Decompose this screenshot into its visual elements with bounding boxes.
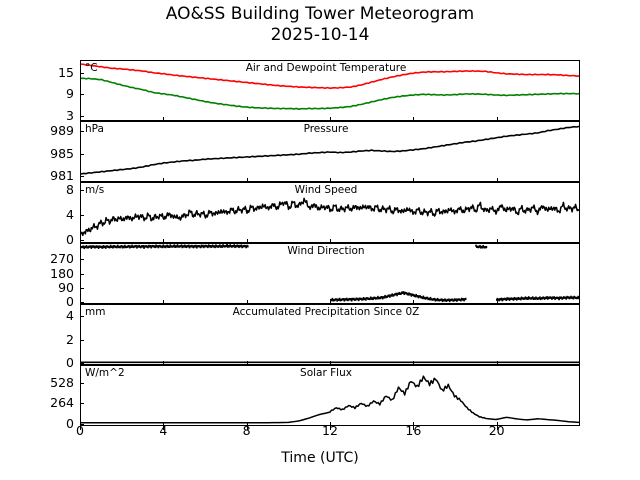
y-tick-label-temperature: 3 [0,109,74,122]
y-tick-mark [80,154,84,155]
x-tick-mark-inner [330,239,331,243]
wind-speed-panel-title: Wind Speed [81,185,579,196]
x-tick-mark-inner [163,361,164,365]
x-tick-mark-inner [497,117,498,121]
y-tick-label-wind-direction: 180 [0,267,74,280]
x-tick-mark-inner [330,300,331,304]
panel-wind-speed: m/s Wind Speed [80,182,580,243]
y-tick-label-precipitation: 0 [0,357,74,370]
y-tick-label-pressure: 989 [0,125,74,138]
y-tick-label-wind-direction: 270 [0,253,74,266]
panel-wind-direction: Wind Direction [80,243,580,304]
solar-flux-panel-title: Solar Flux [81,368,579,379]
y-tick-mark [80,274,84,275]
x-tick-mark-inner [80,178,81,182]
x-tick-mark-inner [413,239,414,243]
panel-pressure: hPa Pressure [80,121,580,182]
x-tick-mark-inner [497,239,498,243]
x-tick-mark-inner [247,300,248,304]
x-tick-mark [247,426,248,430]
panel-solar-flux: W/m^2 Solar Flux [80,365,580,426]
y-tick-mark [80,73,84,74]
precipitation-panel-title: Accumulated Precipitation Since 0Z [81,307,579,318]
y-tick-label-wind-speed: 0 [0,234,74,247]
x-tick-mark-inner [163,117,164,121]
x-tick-mark-inner [80,239,81,243]
temperature-panel-title: Air and Dewpoint Temperature [81,63,579,74]
wind-direction-panel-title: Wind Direction [81,246,579,257]
y-tick-mark [80,316,84,317]
y-tick-mark [80,383,84,384]
y-tick-label-temperature: 15 [0,66,74,79]
x-tick-mark-inner [413,361,414,365]
pressure-panel-title: Pressure [81,124,579,135]
y-tick-label-precipitation: 2 [0,333,74,346]
x-tick-mark-inner [413,178,414,182]
x-tick-mark [80,426,81,430]
x-tick-mark-inner [80,117,81,121]
y-tick-label-solar-flux: 264 [0,397,74,410]
x-tick-mark-inner [330,178,331,182]
y-tick-label-precipitation: 4 [0,310,74,323]
y-tick-mark [80,403,84,404]
y-tick-mark [80,190,84,191]
y-tick-mark [80,340,84,341]
x-tick-mark-inner [413,117,414,121]
x-tick-mark-inner [497,422,498,426]
x-tick-mark-inner [80,422,81,426]
x-tick-mark [330,426,331,430]
meteogram-figure: AO&SS Building Tower Meteorogram 2025-10… [0,0,640,480]
panel-precipitation: mm Accumulated Precipitation Since 0Z [80,304,580,365]
y-tick-label-pressure: 985 [0,148,74,161]
x-tick-mark-inner [247,178,248,182]
y-tick-label-wind-speed: 8 [0,183,74,196]
x-tick-mark-inner [330,361,331,365]
x-tick-mark-inner [247,361,248,365]
x-axis-label: Time (UTC) [0,450,640,466]
x-tick-mark-inner [80,300,81,304]
x-tick-mark-inner [247,422,248,426]
figure-title-line-2: 2025-10-14 [0,25,640,46]
x-tick-mark-inner [163,239,164,243]
x-tick-mark [413,426,414,430]
x-tick-mark-inner [413,300,414,304]
figure-title-line-1: AO&SS Building Tower Meteorogram [0,4,640,25]
y-tick-mark [80,94,84,95]
y-tick-label-solar-flux: 0 [0,417,74,430]
y-tick-label-wind-speed: 4 [0,209,74,222]
y-tick-mark [80,259,84,260]
panel-temperature: °C Air and Dewpoint Temperature [80,60,580,121]
y-tick-label-temperature: 9 [0,88,74,101]
x-tick-mark [497,426,498,430]
x-tick-mark-inner [330,422,331,426]
y-tick-label-wind-direction: 0 [0,296,74,309]
x-tick-mark-inner [330,117,331,121]
x-tick-mark-inner [163,300,164,304]
x-tick-mark-inner [497,361,498,365]
x-tick-mark-inner [80,361,81,365]
x-tick-mark-inner [163,422,164,426]
x-tick-mark-inner [413,422,414,426]
y-tick-label-pressure: 981 [0,170,74,183]
y-tick-label-solar-flux: 528 [0,377,74,390]
x-tick-mark-inner [497,178,498,182]
y-tick-mark [80,131,84,132]
y-tick-mark [80,288,84,289]
x-tick-mark-inner [247,239,248,243]
x-tick-mark-inner [497,300,498,304]
figure-title: AO&SS Building Tower Meteorogram 2025-10… [0,4,640,46]
y-tick-mark [80,215,84,216]
y-tick-label-wind-direction: 90 [0,282,74,295]
x-tick-mark [163,426,164,430]
x-tick-mark-inner [163,178,164,182]
x-tick-mark-inner [247,117,248,121]
